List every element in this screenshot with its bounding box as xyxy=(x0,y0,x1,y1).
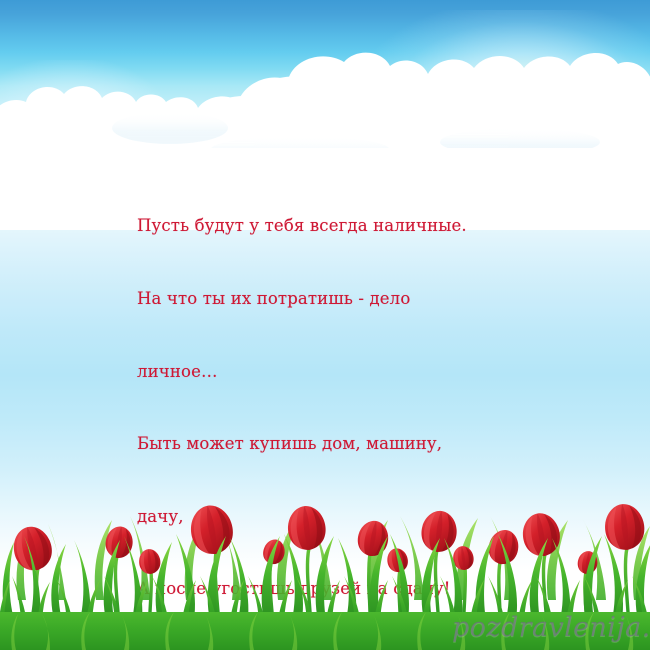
tulip xyxy=(420,509,459,554)
grass-and-tulips-meadow xyxy=(0,0,650,650)
turf-base xyxy=(0,612,650,650)
tulip xyxy=(286,504,328,552)
postcard-canvas: Пусть будут у тебя всегда наличные. На ч… xyxy=(0,0,650,650)
